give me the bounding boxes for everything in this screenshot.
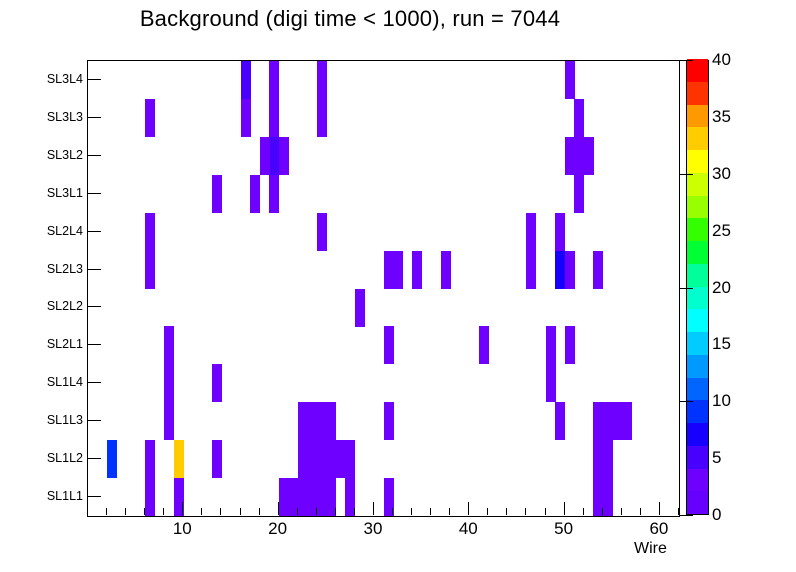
x-axis-minor-tick [583,508,584,515]
color-scale-tick-label: 20 [712,278,731,298]
heatmap-cell [174,440,184,478]
heatmap-cell [164,364,174,402]
heatmap-cell [317,61,327,99]
x-axis-minor-tick [297,508,298,515]
heatmap-cell [336,440,346,478]
color-scale-band [687,377,708,400]
heatmap-cell [250,175,260,213]
heatmap-cell [479,326,489,364]
color-scale-band [687,309,708,332]
heatmap-cell [279,478,289,516]
heatmap-cell [212,440,222,478]
x-axis-major-tick [278,502,279,515]
x-axis-tick-label: 20 [268,519,287,539]
color-scale-band [687,286,708,309]
heatmap-cell [526,251,536,289]
heatmap-cell [565,251,575,289]
heatmap-cell [317,99,327,137]
x-axis-minor-tick [411,508,412,515]
heatmap-cell [212,175,222,213]
heatmap-cell [317,478,327,516]
x-axis-tick-label: 60 [649,519,668,539]
x-axis-minor-tick [621,508,622,515]
heatmap-cell [145,251,155,289]
x-axis-minor-tick [640,508,641,515]
color-scale-band [687,446,708,469]
x-axis-minor-tick [449,508,450,515]
heatmap-cell [412,251,422,289]
heatmap-cell [317,213,327,251]
y-axis-tick-label: SL2L3 [47,262,83,276]
y-axis-tick-label: SL1L2 [47,451,83,465]
x-axis-minor-tick [354,508,355,515]
x-axis-minor-tick [240,508,241,515]
color-scale-band [687,400,708,423]
color-scale-band [687,264,708,287]
root-canvas: Background (digi time < 1000), run = 704… [0,0,796,572]
heatmap-cell [241,61,251,99]
heatmap-cell [345,440,355,478]
color-scale-tick [679,515,693,516]
x-axis-major-tick [182,502,183,515]
color-scale-tick [679,288,693,289]
heatmap-cell [384,251,394,289]
heatmap-cell [145,213,155,251]
heatmap-cell [593,440,603,478]
x-axis-minor-tick [602,508,603,515]
color-scale-tick-label: 5 [712,448,721,468]
heatmap-cell [164,326,174,364]
heatmap-cell [269,137,279,175]
y-axis-tick [87,306,101,307]
heatmap-cell [384,326,394,364]
color-scale-tick [679,401,693,402]
y-axis-tick [87,344,101,345]
x-axis-minor-tick [144,508,145,515]
y-axis-tick [87,79,101,80]
x-axis-minor-tick [545,508,546,515]
y-axis-tick-label: SL3L3 [47,110,83,124]
heatmap-cell [317,440,327,478]
color-scale-band [687,104,708,127]
heatmap-cell [574,137,584,175]
heatmap-cell [565,61,575,99]
heatmap-cell [107,440,117,478]
y-axis-tick-label: SL2L2 [47,299,83,313]
y-axis-tick-label: SL2L4 [47,224,83,238]
heatmap-cell [622,402,632,440]
x-axis-tick-label: 40 [459,519,478,539]
heatmap-cell [593,251,603,289]
x-axis-minor-tick [125,508,126,515]
y-axis-tick [87,382,101,383]
color-scale-band [687,173,708,196]
y-axis-tick [87,458,101,459]
x-axis-minor-tick [430,508,431,515]
heatmap-cell [393,251,403,289]
x-axis-minor-tick [87,508,88,515]
y-axis-labels: SL1L1SL1L2SL1L3SL1L4SL2L1SL2L2SL2L3SL2L4… [0,60,83,515]
heatmap-cell [260,137,270,175]
heatmap-cell [307,440,317,478]
heatmap-cell [612,402,622,440]
color-scale-band [687,423,708,446]
heatmap-cell [164,402,174,440]
x-axis-minor-tick [506,508,507,515]
x-axis-major-tick [468,502,469,515]
color-scale-tick-label: 15 [712,334,731,354]
heatmap-cell [355,289,365,327]
heatmap-cell [603,440,613,478]
heatmap-cell [241,99,251,137]
color-scale-band [687,332,708,355]
x-axis-major-tick [659,502,660,515]
heatmap-cell [279,137,289,175]
color-scale-tick-label: 40 [712,50,731,70]
heatmap-cell [298,478,308,516]
x-axis-tick-label: 10 [173,519,192,539]
x-axis-tick-label: 30 [363,519,382,539]
y-axis-tick [87,231,101,232]
color-scale-tick-label: 10 [712,391,731,411]
page-title: Background (digi time < 1000), run = 704… [0,6,700,32]
heatmap-cell [565,137,575,175]
x-axis-title: Wire [634,540,667,558]
y-axis-tick-label: SL1L1 [47,489,83,503]
heatmap-cell [526,213,536,251]
color-scale-band [687,195,708,218]
color-scale-band [687,355,708,378]
heatmap-cell [555,251,565,289]
y-axis-tick-label: SL1L3 [47,413,83,427]
heatmap-cell [603,402,613,440]
x-axis-minor-tick [220,508,221,515]
heatmap-cell [546,364,556,402]
x-axis-minor-tick [163,508,164,515]
x-axis-minor-tick [201,508,202,515]
x-axis-major-tick [564,502,565,515]
heatmap-cell [298,402,308,440]
y-axis-tick [87,117,101,118]
heatmap-cell [546,326,556,364]
color-scale-band [687,127,708,150]
y-axis-tick-label: SL1L4 [47,375,83,389]
heatmap-cells [88,61,679,516]
heatmap-cell [145,99,155,137]
x-axis-minor-tick [678,508,679,515]
heatmap-cell [326,402,336,440]
color-scale-band [687,82,708,105]
heatmap-cell [298,440,308,478]
x-axis-minor-tick [392,508,393,515]
heatmap-cell [145,440,155,478]
heatmap-cell [593,402,603,440]
heatmap-cell [269,175,279,213]
heatmap-cell [307,402,317,440]
color-scale-tick-label: 0 [712,505,721,525]
heatmap-cell [574,99,584,137]
x-axis-minor-tick [316,508,317,515]
y-axis-tick [87,496,101,497]
y-axis-tick-label: SL3L4 [47,72,83,86]
heatmap-cell [555,402,565,440]
color-scale-tick-label: 35 [712,107,731,127]
y-axis-tick [87,420,101,421]
y-axis-tick-label: SL3L2 [47,148,83,162]
y-axis-tick-label: SL3L1 [47,186,83,200]
heatmap-cell [555,213,565,251]
color-scale-tick-label: 25 [712,221,731,241]
x-axis-minor-tick [525,508,526,515]
color-scale-band [687,59,708,82]
x-axis-minor-tick [335,508,336,515]
color-scale-band [687,241,708,264]
heatmap-cell [269,61,279,99]
heatmap-cell [326,440,336,478]
x-axis-minor-tick [106,508,107,515]
heatmap-cell [565,326,575,364]
heatmap-cell [584,137,594,175]
color-scale-band [687,491,708,514]
x-axis-minor-tick [487,508,488,515]
x-axis-major-tick [373,502,374,515]
heatmap-cell [269,99,279,137]
heatmap-cell [441,251,451,289]
heatmap-cell [212,364,222,402]
y-axis-tick [87,269,101,270]
color-scale-tick-label: 30 [712,164,731,184]
color-scale-band [687,468,708,491]
x-axis-minor-tick [259,508,260,515]
color-scale-band [687,218,708,241]
x-axis-tick-label: 50 [554,519,573,539]
heatmap-cell [317,402,327,440]
y-axis-tick [87,155,101,156]
heatmap-cell [384,402,394,440]
y-axis-tick [87,193,101,194]
heatmap-cell [603,478,613,516]
y-axis-tick-label: SL2L1 [47,337,83,351]
color-scale-tick [679,60,693,61]
heatmap-cell [145,478,155,516]
color-scale-tick [679,174,693,175]
plot-frame [87,60,680,517]
heatmap-cell [574,175,584,213]
color-scale-band [687,150,708,173]
